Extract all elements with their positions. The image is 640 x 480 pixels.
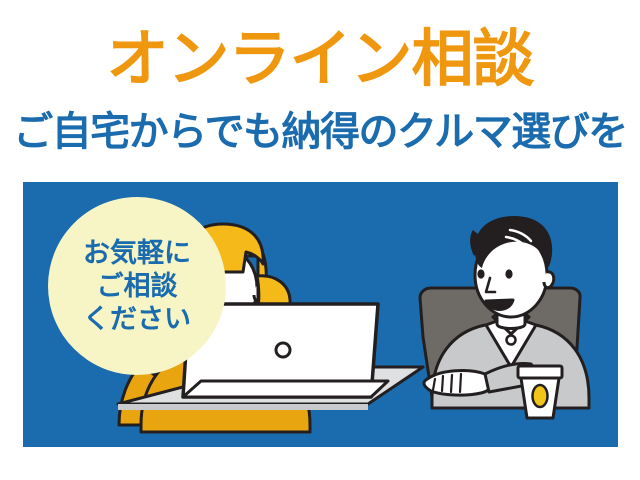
laptop-logo (276, 343, 290, 357)
laptop-base (183, 381, 388, 397)
coffee-cup-lid (518, 366, 562, 378)
banner-root: オンライン相談 ご自宅からでも納得のクルマ選びを (0, 0, 640, 480)
heading-block: オンライン相談 ご自宅からでも納得のクルマ選びを (0, 0, 640, 178)
man-eye (505, 269, 512, 278)
page-title: オンライン相談 (0, 24, 640, 94)
badge-line-3: ください (83, 303, 191, 336)
desk-edge (118, 404, 368, 410)
man-eye-left (477, 269, 484, 278)
coffee-cup-logo (533, 385, 548, 407)
consultation-badge: お気軽に ご相談 ください (48, 197, 226, 375)
badge-line-2: ご相談 (97, 270, 178, 303)
man-shirt-button (507, 336, 516, 345)
page-subtitle: ご自宅からでも納得のクルマ選びを (0, 108, 640, 156)
badge-line-1: お気軽に (83, 237, 191, 270)
illustration-panel: お気軽に ご相談 ください (23, 182, 618, 447)
